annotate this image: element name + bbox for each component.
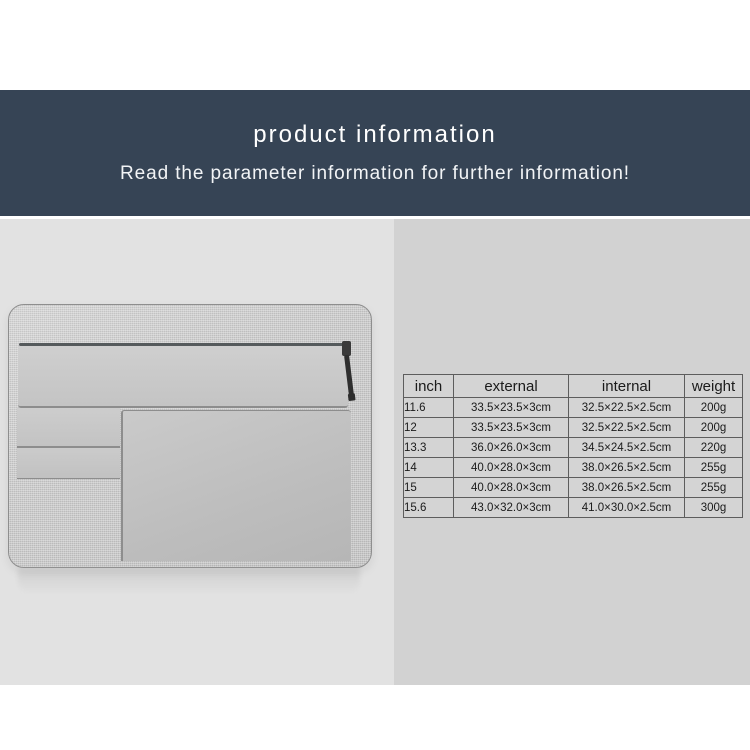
cell-external: 43.0×32.0×3cm [454, 498, 569, 518]
table-row: 13.3 36.0×26.0×3cm 34.5×24.5×2.5cm 220g [404, 438, 743, 458]
cell-weight: 200g [685, 398, 743, 418]
cell-inch: 13.3 [404, 438, 454, 458]
column-header-inch: inch [404, 375, 454, 398]
table-row: 15.6 43.0×32.0×3cm 41.0×30.0×2.5cm 300g [404, 498, 743, 518]
column-header-external: external [454, 375, 569, 398]
product-information-page: product information Read the parameter i… [0, 0, 750, 750]
left-slot-pocket-bottom [17, 448, 120, 479]
content-area: inch external internal weight 11.6 33.5×… [0, 219, 750, 685]
column-header-weight: weight [685, 375, 743, 398]
cell-external: 33.5×23.5×3cm [454, 398, 569, 418]
cell-internal: 32.5×22.5×2.5cm [569, 418, 685, 438]
upper-pocket [18, 346, 348, 408]
cell-weight: 300g [685, 498, 743, 518]
cell-inch: 12 [404, 418, 454, 438]
product-reflection [18, 568, 360, 594]
cell-inch: 15.6 [404, 498, 454, 518]
cell-weight: 200g [685, 418, 743, 438]
cell-inch: 11.6 [404, 398, 454, 418]
specification-panel: inch external internal weight 11.6 33.5×… [394, 219, 750, 685]
cell-weight: 255g [685, 478, 743, 498]
laptop-sleeve-image [8, 304, 372, 568]
main-front-pocket [121, 410, 351, 561]
product-photo-panel [0, 219, 394, 685]
table-row: 12 33.5×23.5×3cm 32.5×22.5×2.5cm 200g [404, 418, 743, 438]
zipper-slider-icon [342, 341, 351, 356]
cell-external: 40.0×28.0×3cm [454, 478, 569, 498]
cell-internal: 38.0×26.5×2.5cm [569, 478, 685, 498]
cell-weight: 220g [685, 438, 743, 458]
cell-weight: 255g [685, 458, 743, 478]
cell-external: 36.0×26.0×3cm [454, 438, 569, 458]
specification-table: inch external internal weight 11.6 33.5×… [403, 374, 743, 518]
cell-inch: 15 [404, 478, 454, 498]
cell-inch: 14 [404, 458, 454, 478]
cell-internal: 34.5×24.5×2.5cm [569, 438, 685, 458]
page-title: product information [253, 123, 496, 147]
cell-external: 33.5×23.5×3cm [454, 418, 569, 438]
table-row: 15 40.0×28.0×3cm 38.0×26.5×2.5cm 255g [404, 478, 743, 498]
table-header-row: inch external internal weight [404, 375, 743, 398]
cell-external: 40.0×28.0×3cm [454, 458, 569, 478]
table-row: 14 40.0×28.0×3cm 38.0×26.5×2.5cm 255g [404, 458, 743, 478]
page-subtitle: Read the parameter information for furth… [120, 164, 630, 183]
table-row: 11.6 33.5×23.5×3cm 32.5×22.5×2.5cm 200g [404, 398, 743, 418]
column-header-internal: internal [569, 375, 685, 398]
cell-internal: 41.0×30.0×2.5cm [569, 498, 685, 518]
spec-table-container: inch external internal weight 11.6 33.5×… [403, 374, 742, 518]
page-banner: product information Read the parameter i… [0, 90, 750, 216]
cell-internal: 38.0×26.5×2.5cm [569, 458, 685, 478]
left-slot-pocket-top [17, 408, 120, 448]
cell-internal: 32.5×22.5×2.5cm [569, 398, 685, 418]
